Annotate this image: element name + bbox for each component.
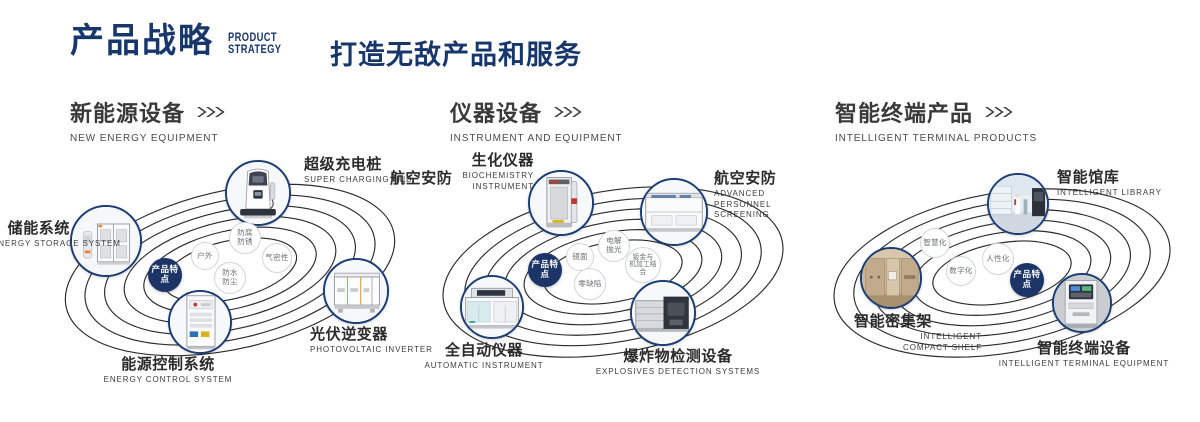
- feature-label: 数字化: [949, 267, 972, 276]
- section-title-cn: 仪器设备: [450, 96, 542, 128]
- compact-shelf-art: [862, 249, 920, 307]
- label-en: INTELLIGENT LIBRARY: [1057, 188, 1162, 198]
- feature-bubble-outdoor[interactable]: 户外: [191, 242, 219, 270]
- label-cn: 爆炸物检测设备: [588, 348, 768, 365]
- core-feature-label: 产品特点: [148, 265, 182, 285]
- diagram-new-energy: 储能系统 ENERGY STORAGE SYSTEM 超级充电桩 SUPER C…: [40, 150, 420, 390]
- feature-label: 智慧化: [923, 239, 946, 248]
- feature-label: 电解 抛光: [606, 237, 622, 254]
- node-super-charging-hub[interactable]: [225, 160, 291, 226]
- label-cn: 航空安防: [390, 170, 450, 187]
- label-energy-storage-system: 储能系统 ENERGY STORAGE SYSTEM: [0, 220, 70, 250]
- energy-control-cabinet-art: [170, 292, 230, 352]
- feature-bubble-digital[interactable]: 数字化: [946, 256, 976, 286]
- chevron-right-icon: [985, 106, 1015, 118]
- chevron-right-icon: [197, 106, 227, 118]
- node-photovoltaic-inverter[interactable]: [323, 258, 389, 324]
- page-header: 产品战略 PRODUCT STRATEGY: [70, 24, 296, 58]
- label-advanced-personnel-screening: 航空安防 ADVANCED PERSONNEL SCREENING: [714, 170, 812, 220]
- section-subtitle-en: INTELLIGENT TERMINAL PRODUCTS: [835, 133, 1037, 144]
- section-subtitle-en: INSTRUMENT AND EQUIPMENT: [450, 133, 623, 144]
- label-intelligent-library: 智能馆库 INTELLIGENT LIBRARY: [1057, 169, 1162, 199]
- security-scanner-art: [530, 172, 592, 234]
- label-energy-control-system: 能源控制系统 ENERGY CONTROL SYSTEM: [88, 356, 248, 386]
- feature-label: 镜面: [572, 253, 588, 262]
- section-subtitle-en: NEW ENERGY EQUIPMENT: [70, 133, 227, 144]
- feature-label: 零缺陷: [578, 280, 601, 289]
- core-feature-bubble[interactable]: 产品特点: [148, 258, 182, 292]
- label-cn: 智能密集架: [804, 313, 982, 330]
- feature-label: 人性化: [986, 255, 1009, 264]
- label-cn: 能源控制系统: [88, 356, 248, 373]
- feature-bubble-anticorrosion[interactable]: 防腐 防锈: [229, 222, 261, 254]
- core-feature-label: 产品特点: [528, 260, 562, 280]
- label-cn: 智能终端设备: [994, 340, 1174, 357]
- label-en: ADVANCED PERSONNEL SCREENING: [714, 189, 812, 220]
- label-en: ENERGY CONTROL SYSTEM: [88, 375, 248, 385]
- section-title-new-energy: 新能源设备 NEW ENERGY EQUIPMENT: [70, 96, 227, 144]
- label-intelligent-terminal-equipment: 智能终端设备 INTELLIGENT TERMINAL EQUIPMENT: [994, 340, 1174, 370]
- page-subtitle: 打造无敌产品和服务: [330, 33, 582, 72]
- label-aviation-security-left: 航空安防: [390, 170, 450, 187]
- chevron-right-icon: [554, 106, 584, 118]
- page-title-cn: 产品战略: [70, 24, 214, 58]
- feature-bubble-zero-defect[interactable]: 零缺陷: [574, 268, 606, 300]
- feature-bubble-smart[interactable]: 智慧化: [920, 228, 950, 258]
- screening-machine-art: [642, 180, 706, 244]
- core-feature-label: 产品特点: [1010, 270, 1044, 290]
- label-cn: 光伏逆变器: [310, 326, 433, 343]
- section-title-instrument: 仪器设备 INSTRUMENT AND EQUIPMENT: [450, 96, 623, 144]
- label-cn: 生化仪器: [386, 152, 534, 169]
- product-strategy-infographic: 产品战略 PRODUCT STRATEGY 打造无敌产品和服务 新能源设备 NE…: [0, 0, 1200, 422]
- section-title-intelligent-terminal: 智能终端产品 INTELLIGENT TERMINAL PRODUCTS: [835, 96, 1037, 144]
- feature-label: 户外: [197, 252, 213, 261]
- charging-pile-art: [227, 162, 289, 224]
- node-advanced-personnel-screening[interactable]: [640, 178, 708, 246]
- automatic-analyzer-art: [462, 277, 522, 337]
- node-intelligent-terminal-equipment[interactable]: [1052, 273, 1112, 333]
- node-automatic-instrument[interactable]: [460, 275, 524, 339]
- feature-label: 钣金与 机加工结合: [626, 254, 660, 277]
- node-intelligent-compact-shelf[interactable]: [860, 247, 922, 309]
- label-en: AUTOMATIC INSTRUMENT: [404, 361, 564, 371]
- feature-label: 气密性: [265, 254, 288, 263]
- section-title-cn: 智能终端产品: [835, 96, 973, 128]
- intelligent-library-art: [989, 175, 1047, 233]
- label-cn: 智能馆库: [1057, 169, 1162, 186]
- self-service-kiosk-art: [1054, 275, 1110, 331]
- page-title-en: PRODUCT STRATEGY: [228, 31, 281, 58]
- feature-bubble-waterproof[interactable]: 防水 防尘: [214, 262, 246, 294]
- feature-label: 防腐 防锈: [237, 229, 253, 246]
- feature-label: 防水 防尘: [222, 269, 238, 286]
- label-cn: 储能系统: [0, 220, 70, 237]
- diagram-instrument: 生化仪器 BIOCHEMISTRY INSTRUMENT 航空安防 航空安防 A…: [418, 150, 808, 390]
- core-feature-bubble[interactable]: 产品特点: [1010, 263, 1044, 297]
- feature-bubble-sheetmetal-machining[interactable]: 钣金与 机加工结合: [625, 247, 661, 283]
- label-en: EXPLOSIVES DETECTION SYSTEMS: [588, 367, 768, 377]
- label-en: INTELLIGENT TERMINAL EQUIPMENT: [994, 359, 1174, 369]
- page-title-en-line2: STRATEGY: [228, 43, 281, 55]
- node-biochemistry-instrument[interactable]: [528, 170, 594, 236]
- node-explosives-detection-systems[interactable]: [630, 280, 696, 346]
- label-automatic-instrument: 全自动仪器 AUTOMATIC INSTRUMENT: [404, 342, 564, 372]
- diagram-intelligent-terminal: 智能馆库 INTELLIGENT LIBRARY 智能密集架 INTELLIGE…: [812, 155, 1200, 390]
- node-intelligent-library[interactable]: [987, 173, 1049, 235]
- feature-bubble-mirror[interactable]: 镜面: [566, 243, 594, 271]
- label-en: ENERGY STORAGE SYSTEM: [0, 239, 70, 249]
- label-en: INTELLIGENT COMPACT SHELF: [874, 332, 982, 353]
- node-energy-control-system[interactable]: [168, 290, 232, 354]
- label-intelligent-compact-shelf: 智能密集架 INTELLIGENT COMPACT SHELF: [804, 313, 982, 353]
- section-title-cn: 新能源设备: [70, 96, 185, 128]
- label-cn: 全自动仪器: [404, 342, 564, 359]
- label-cn: 航空安防: [714, 170, 812, 187]
- label-explosives-detection-systems: 爆炸物检测设备 EXPLOSIVES DETECTION SYSTEMS: [588, 348, 768, 378]
- feature-bubble-airtight[interactable]: 气密性: [262, 243, 292, 273]
- photovoltaic-inverter-art: [325, 260, 387, 322]
- explosives-detector-art: [632, 282, 694, 344]
- core-feature-bubble[interactable]: 产品特点: [528, 253, 562, 287]
